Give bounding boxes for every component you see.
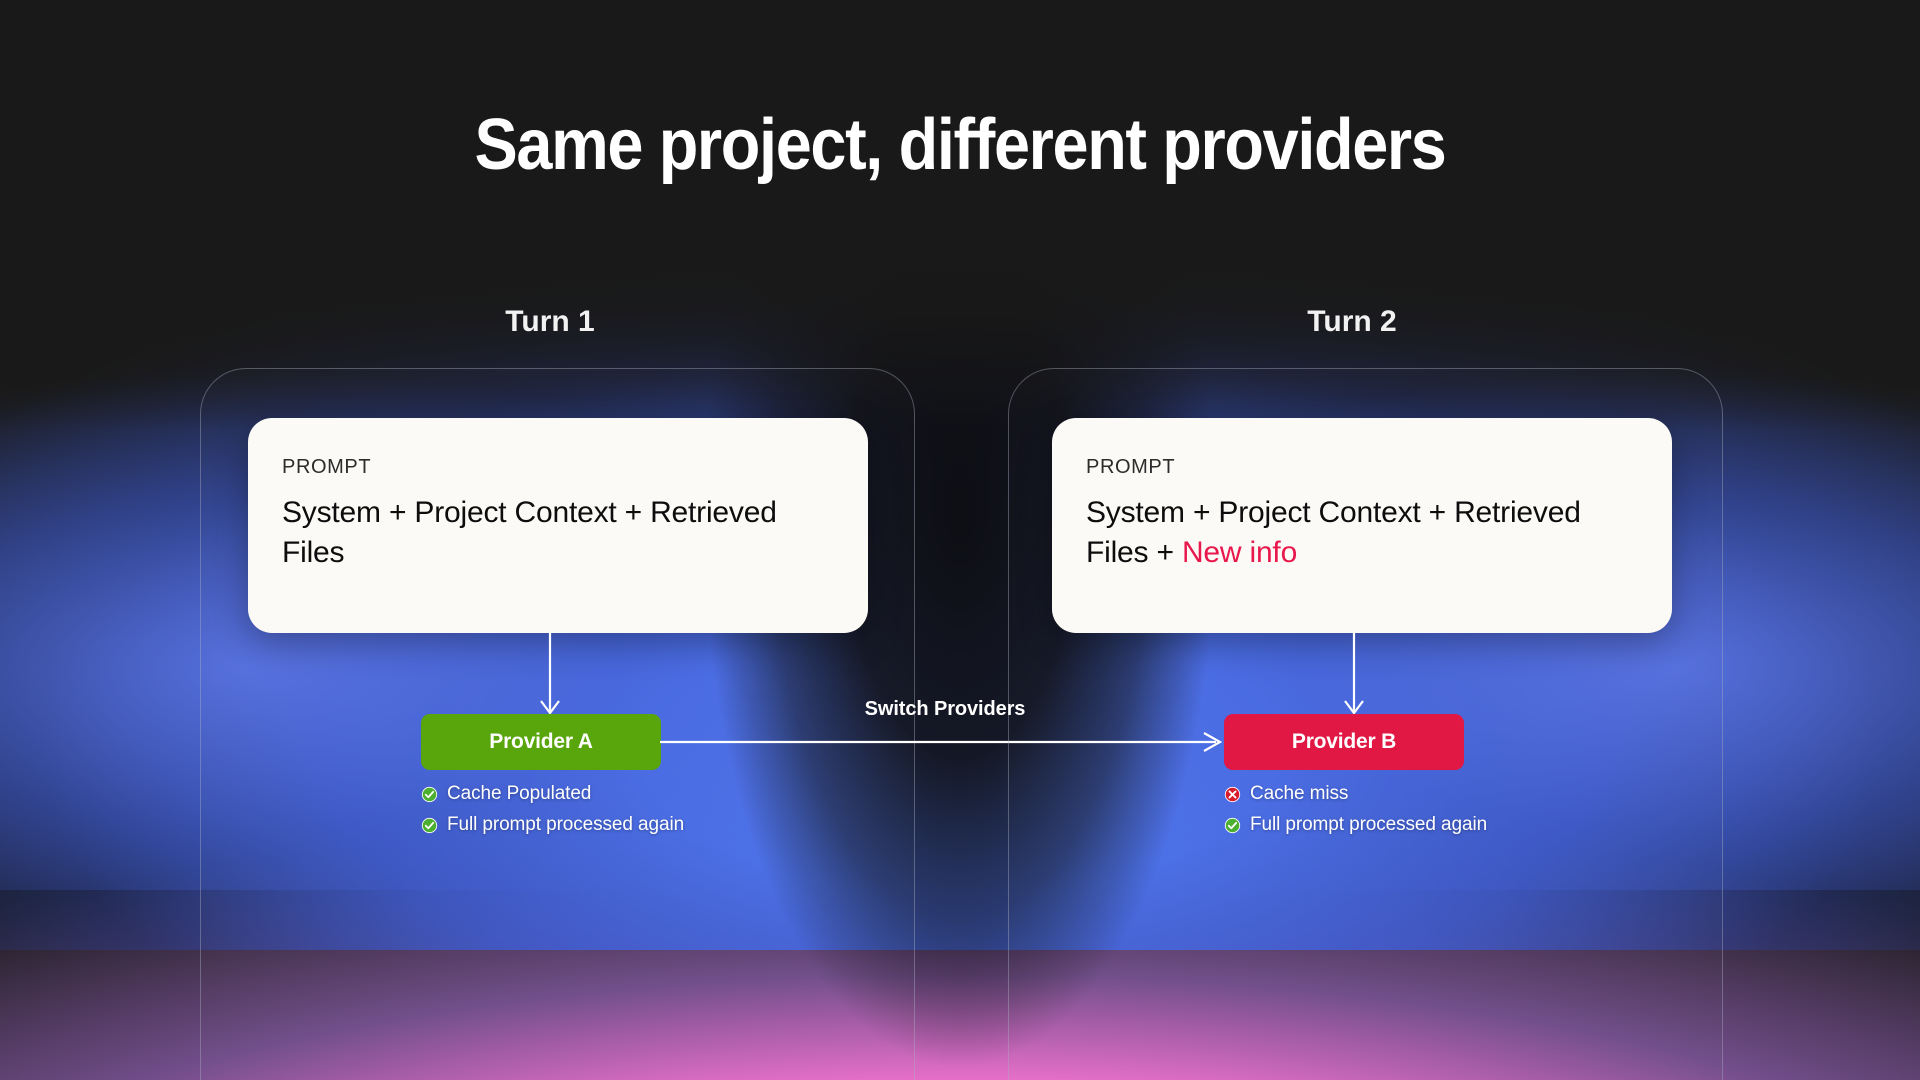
arrow-down-icon-turn-2 — [1341, 633, 1367, 721]
x-circle-icon — [1224, 786, 1241, 803]
status-label: Full prompt processed again — [1250, 814, 1487, 836]
status-item: Full prompt processed again — [1224, 814, 1487, 836]
status-list-turn-2: Cache miss Full prompt processed again — [1224, 783, 1487, 845]
prompt-card-turn-2: PROMPT System + Project Context + Retrie… — [1052, 418, 1672, 633]
page-title: Same project, different providers — [96, 104, 1824, 186]
check-circle-icon — [421, 786, 438, 803]
prompt-text-highlight: New info — [1182, 536, 1297, 569]
status-label: Full prompt processed again — [447, 814, 684, 836]
arrow-down-icon-turn-1 — [537, 633, 563, 721]
status-label: Cache miss — [1250, 783, 1348, 805]
turn-2-label: Turn 2 — [1232, 305, 1472, 339]
diagram-root: Same project, different providers Turn 1… — [0, 0, 1920, 1080]
prompt-text: System + Project Context + Retrieved Fil… — [1086, 493, 1638, 572]
status-item: Cache miss — [1224, 783, 1487, 805]
provider-b-button[interactable]: Provider B — [1224, 714, 1464, 770]
prompt-kicker: PROMPT — [282, 456, 834, 479]
status-item: Cache Populated — [421, 783, 684, 805]
provider-b-label: Provider B — [1292, 730, 1396, 754]
status-label: Cache Populated — [447, 783, 591, 805]
check-circle-icon — [421, 817, 438, 834]
prompt-card-turn-1: PROMPT System + Project Context + Retrie… — [248, 418, 868, 633]
check-circle-icon — [1224, 817, 1241, 834]
provider-a-label: Provider A — [489, 730, 592, 754]
prompt-text: System + Project Context + Retrieved Fil… — [282, 493, 834, 572]
status-item: Full prompt processed again — [421, 814, 684, 836]
turn-1-label: Turn 1 — [430, 305, 670, 339]
prompt-text-main: System + Project Context + Retrieved Fil… — [282, 496, 777, 569]
provider-a-button[interactable]: Provider A — [421, 714, 661, 770]
prompt-text-main: System + Project Context + Retrieved Fil… — [1086, 496, 1581, 569]
prompt-kicker: PROMPT — [1086, 456, 1638, 479]
status-list-turn-1: Cache Populated Full prompt processed ag… — [421, 783, 684, 845]
